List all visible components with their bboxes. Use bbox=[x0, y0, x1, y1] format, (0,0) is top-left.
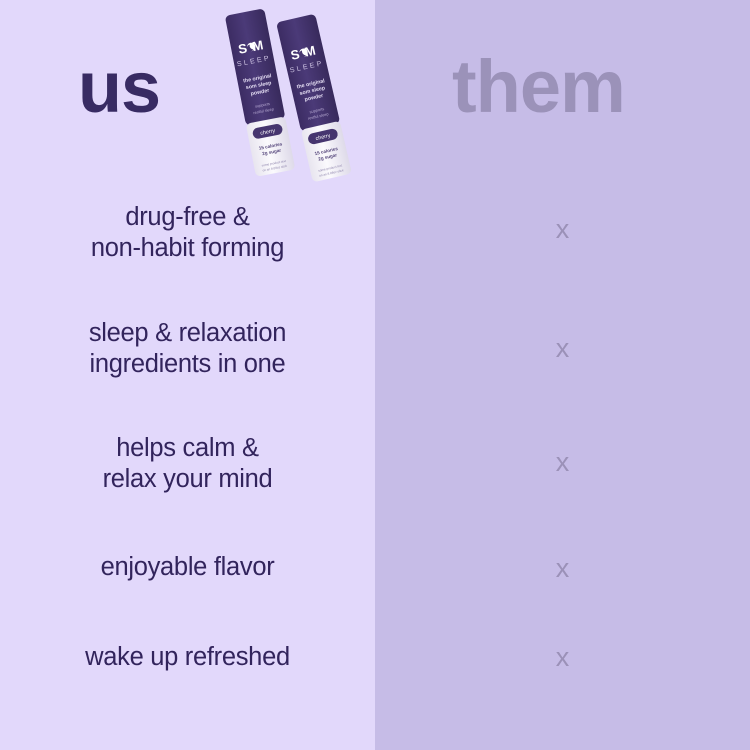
comparison-chart: us them S M bbox=[0, 0, 750, 750]
cross-icon: x bbox=[556, 214, 570, 244]
feature-label: drug-free & non-habit forming bbox=[0, 202, 375, 264]
them-cell: x bbox=[375, 216, 750, 243]
them-cell: x bbox=[375, 644, 750, 671]
feature-row: sleep & relaxation ingredients in one bbox=[0, 318, 375, 380]
feature-label: enjoyable flavor bbox=[0, 552, 375, 583]
us-column-heading: us bbox=[78, 52, 160, 124]
feature-label: helps calm & relax your mind bbox=[0, 433, 375, 495]
feature-row: wake up refreshed bbox=[0, 642, 375, 673]
them-cell: x bbox=[375, 335, 750, 362]
feature-label: wake up refreshed bbox=[0, 642, 375, 673]
product-image: S M SLEEP the original som sleep powder … bbox=[218, 2, 358, 182]
them-column-heading: them bbox=[452, 50, 625, 124]
cross-icon: x bbox=[556, 333, 570, 363]
cross-icon: x bbox=[556, 553, 570, 583]
them-cell: x bbox=[375, 555, 750, 582]
cross-icon: x bbox=[556, 642, 570, 672]
feature-row: enjoyable flavor bbox=[0, 552, 375, 583]
them-cell: x bbox=[375, 449, 750, 476]
feature-label: sleep & relaxation ingredients in one bbox=[0, 318, 375, 380]
feature-row: helps calm & relax your mind bbox=[0, 433, 375, 495]
cross-icon: x bbox=[556, 447, 570, 477]
feature-row: drug-free & non-habit forming bbox=[0, 202, 375, 264]
